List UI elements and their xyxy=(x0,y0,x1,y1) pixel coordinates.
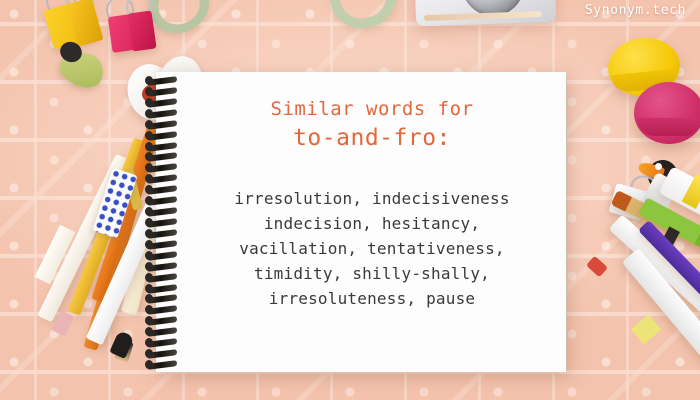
spiral-coil xyxy=(145,198,181,204)
synonym-line: irresoluteness, pause xyxy=(186,286,558,311)
spiral-coil xyxy=(145,100,181,106)
spiral-coil xyxy=(145,220,181,226)
spiral-coil xyxy=(145,187,181,193)
spiral-coil xyxy=(145,329,181,335)
spiral-coil xyxy=(145,231,181,237)
spiral-coil xyxy=(145,165,181,171)
spiral-coil xyxy=(145,286,181,292)
synonym-line: indecision, hesitancy, xyxy=(186,211,558,236)
spiral-binding xyxy=(145,78,181,368)
spiral-coil xyxy=(145,275,181,281)
spiral-coil xyxy=(145,340,181,346)
spiral-coil xyxy=(145,318,181,324)
synonym-line: timidity, shilly-shally, xyxy=(186,261,558,286)
spiral-coil xyxy=(145,89,181,95)
notepad-content: Similar words for to-and-fro: irresoluti… xyxy=(186,72,558,372)
spiral-coil xyxy=(145,264,181,270)
spiral-coil xyxy=(145,144,181,150)
spiral-coil xyxy=(145,307,181,313)
toucan-eye-icon xyxy=(655,163,662,170)
spiral-coil xyxy=(145,154,181,160)
spiral-coil xyxy=(145,296,181,302)
spiral-coil xyxy=(145,111,181,117)
spiral-coil xyxy=(145,253,181,259)
similar-words-label: Similar words for xyxy=(186,96,558,122)
synonym-list: irresolution, indecisiveness indecision,… xyxy=(186,186,558,311)
pink-binder-clip2-icon xyxy=(127,11,156,52)
spiral-coil xyxy=(145,242,181,248)
pink-macaron-base-icon xyxy=(637,118,700,136)
synonym-line: irresolution, indecisiveness xyxy=(186,186,558,211)
spiral-coil xyxy=(145,133,181,139)
site-logo: Synonym.tech xyxy=(585,3,686,18)
spiral-coil xyxy=(145,122,181,128)
spiral-coil xyxy=(145,362,181,368)
spiral-coil xyxy=(145,78,181,84)
headword: to-and-fro: xyxy=(186,122,558,154)
spiral-coil xyxy=(145,351,181,357)
spiral-coil xyxy=(145,209,181,215)
synonym-line: vacillation, tentativeness, xyxy=(186,236,558,261)
spiral-coil xyxy=(145,176,181,182)
